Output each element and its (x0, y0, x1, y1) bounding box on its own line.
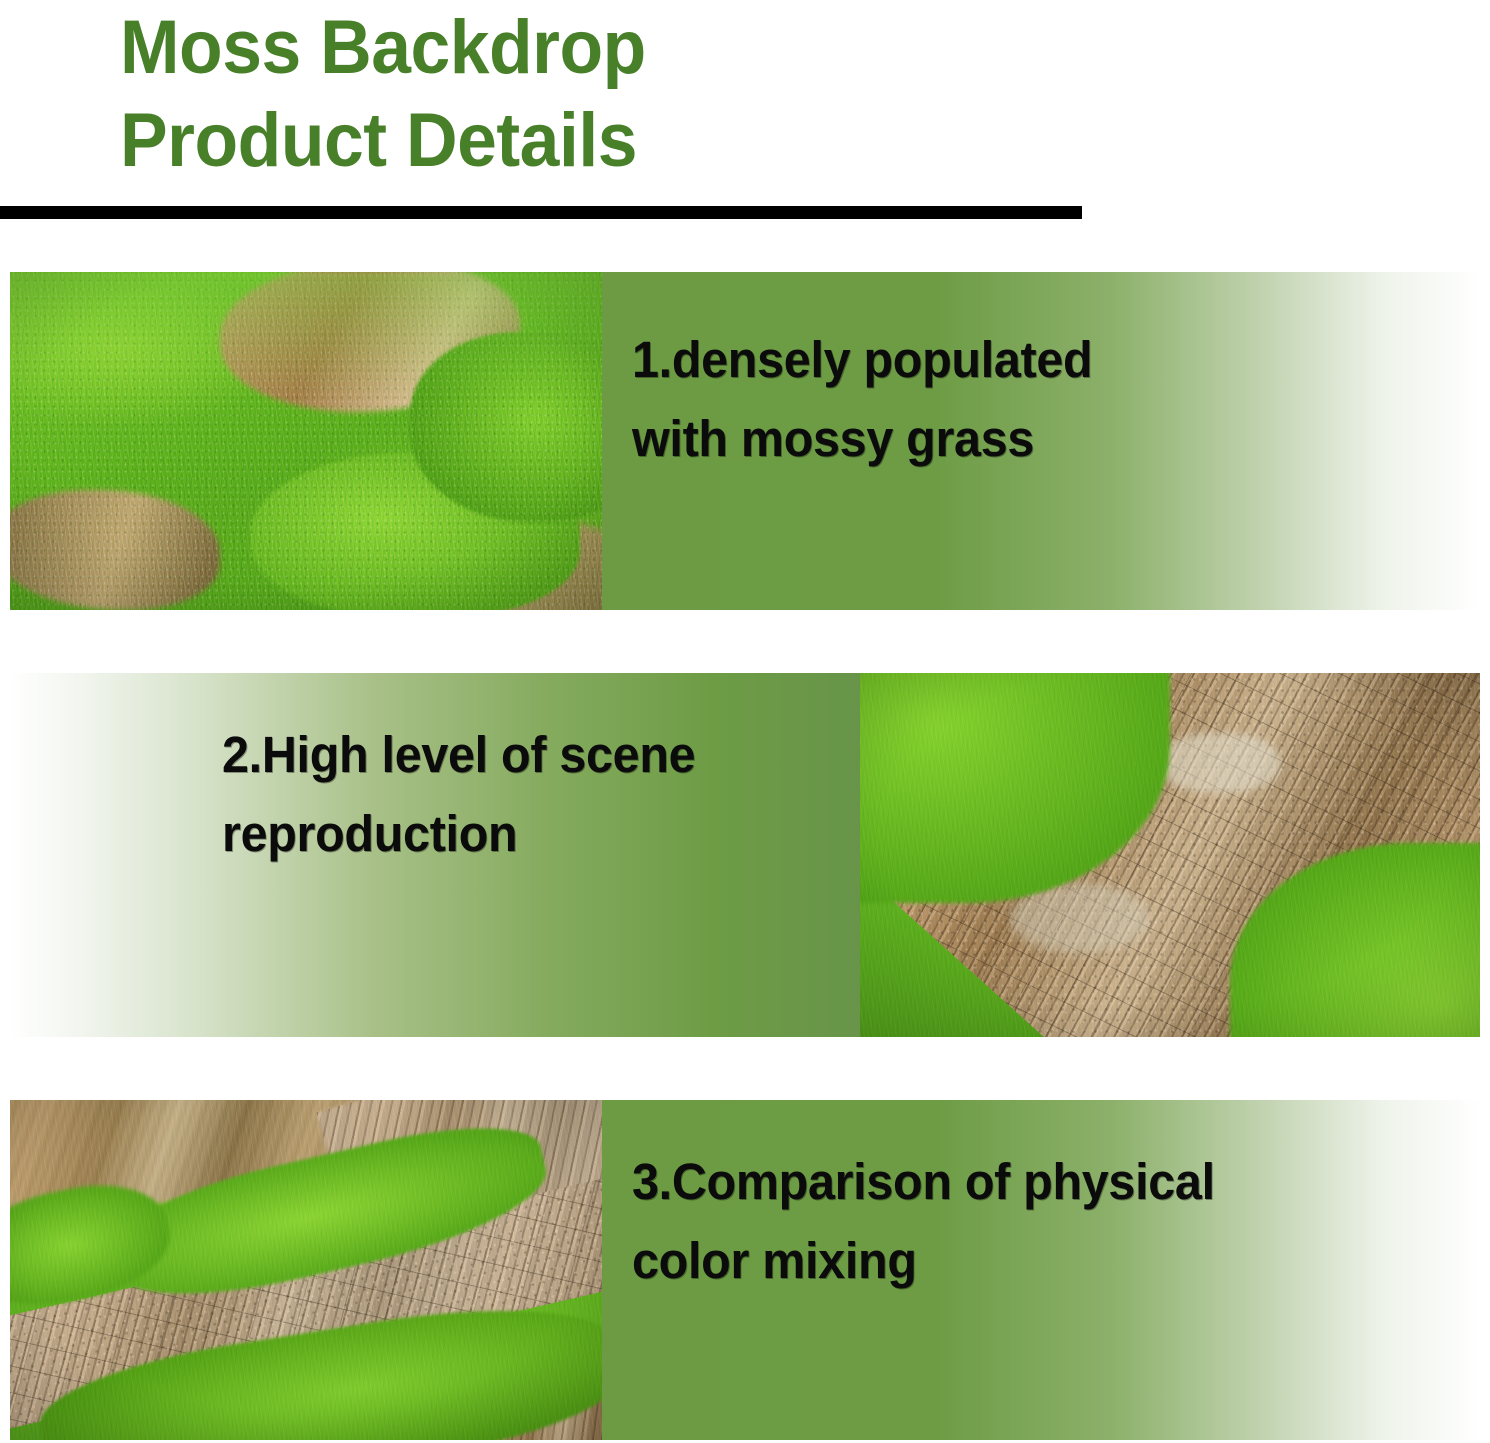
row-3-caption: 3.Comparison of physical color mixing (632, 1142, 1411, 1300)
header: Moss Backdrop Product Details (0, 0, 1490, 250)
photo-vignette (10, 272, 602, 610)
row-1-caption: 1.densely populated with mossy grass (632, 320, 1411, 478)
feature-row-3: 3.Comparison of physical color mixing (10, 1100, 1480, 1440)
photo-vignette (860, 673, 1480, 1037)
photo-vignette (10, 1100, 602, 1440)
title-underline-rule (0, 206, 1082, 219)
feature-row-1: 1.densely populated with mossy grass (10, 272, 1480, 610)
row-1-photo-moss-grass (10, 272, 602, 610)
row-2-photo-bark-closeup (860, 673, 1480, 1037)
row-3-photo-bark-and-moss (10, 1100, 602, 1440)
feature-row-2: 2.High level of scene reproduction (10, 673, 1480, 1037)
page-title: Moss Backdrop Product Details (120, 2, 1022, 187)
row-2-caption: 2.High level of scene reproduction (222, 715, 887, 873)
